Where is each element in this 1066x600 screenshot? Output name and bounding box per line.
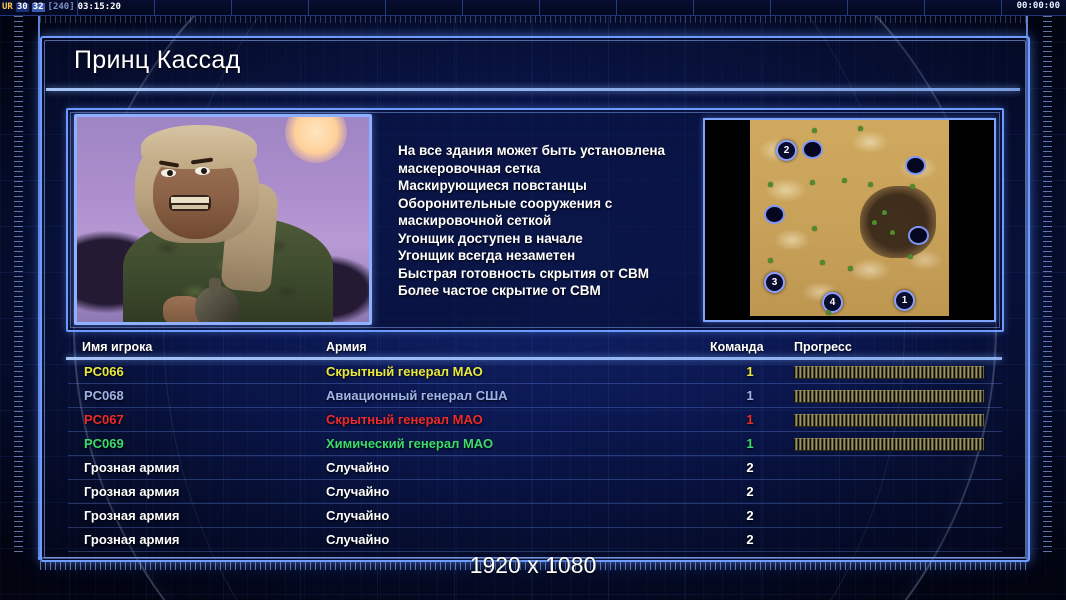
map-tree [858, 126, 863, 131]
map-tree [842, 178, 847, 183]
map-tree [908, 254, 913, 259]
player-army[interactable]: Случайно [326, 460, 389, 475]
table-row[interactable]: PC067Скрытный генерал МАО1 [68, 408, 1002, 432]
title-divider [46, 88, 1020, 91]
player-name: Грозная армия [84, 484, 180, 499]
status-bar-tick [616, 0, 617, 15]
hud-value-2: 32 [32, 3, 45, 12]
portrait-teapot-handle [209, 278, 221, 292]
hud-clock: 03:15:20 [78, 3, 121, 12]
table-row[interactable]: Грозная армияСлучайно2 [68, 456, 1002, 480]
table-row[interactable]: PC066Скрытный генерал МАО1 [68, 360, 1002, 384]
player-name: PC067 [84, 412, 124, 427]
player-progress [794, 366, 984, 377]
player-name: Грозная армия [84, 460, 180, 475]
map-tree [848, 266, 853, 271]
map-tree [868, 182, 873, 187]
progress-bar [794, 438, 984, 451]
map-tree [768, 258, 773, 263]
status-bar-tick [539, 0, 540, 15]
player-name: Грозная армия [84, 532, 180, 547]
player-team[interactable]: 2 [742, 532, 758, 547]
player-army[interactable]: Скрытный генерал МАО [326, 412, 483, 427]
player-name: PC066 [84, 364, 124, 379]
player-army[interactable]: Авиационный генерал США [326, 388, 508, 403]
map-tree [872, 220, 877, 225]
hud-value-3: [240] [48, 3, 75, 12]
player-team[interactable]: 1 [742, 364, 758, 379]
player-name: Грозная армия [84, 508, 180, 523]
player-progress [794, 462, 984, 473]
status-bar-tick [1001, 0, 1002, 15]
portrait-pupil-left [167, 170, 173, 176]
ruler-right [1043, 16, 1052, 556]
player-table-header: Имя игрока Армия Команда Прогресс [66, 338, 1002, 358]
status-bar-tick [308, 0, 309, 15]
map-preview[interactable]: 2 3 4 1 [703, 118, 996, 322]
progress-bar [794, 390, 984, 403]
column-header-progress: Прогресс [794, 340, 852, 354]
hud-fps-label: UR [2, 3, 13, 12]
player-army[interactable]: Случайно [326, 484, 389, 499]
map-hole [764, 205, 785, 224]
ruler-left [14, 16, 23, 556]
ability-line: Оборонительные сооружения с [398, 195, 698, 213]
status-bar-tick [770, 0, 771, 15]
column-header-name: Имя игрока [82, 340, 152, 354]
general-portrait-image [77, 117, 369, 322]
player-army[interactable]: Скрытный генерал МАО [326, 364, 483, 379]
ability-line: Маскирующиеся повстанцы [398, 177, 698, 195]
player-progress [794, 438, 984, 449]
status-bar-tick [924, 0, 925, 15]
game-lobby-screen: UR 30 32 [240] 03:15:20 00:00:00 Принц К… [0, 0, 1066, 600]
table-row[interactable]: Грозная армияСлучайно2 [68, 480, 1002, 504]
player-team[interactable]: 2 [742, 508, 758, 523]
portrait-pupil-right [201, 168, 207, 174]
ability-line: маскеровочная сетка [398, 160, 698, 178]
progress-bar [794, 414, 984, 427]
status-bar-tick [847, 0, 848, 15]
player-progress [794, 534, 984, 545]
player-team[interactable]: 1 [742, 412, 758, 427]
player-team[interactable]: 1 [742, 388, 758, 403]
table-row[interactable]: PC068Авиационный генерал США1 [68, 384, 1002, 408]
table-row[interactable]: Грозная армияСлучайно2 [68, 504, 1002, 528]
portrait-mouth [169, 195, 211, 211]
general-portrait [74, 114, 372, 325]
ruler-top [40, 16, 1026, 23]
player-army[interactable]: Химический генерал МАО [326, 436, 493, 451]
map-tree [882, 210, 887, 215]
ability-line: Более частое скрытие от СВМ [398, 282, 698, 300]
player-progress [794, 390, 984, 401]
map-start-position: 3 [764, 272, 785, 293]
player-team[interactable]: 1 [742, 436, 758, 451]
ability-line: Угонщик доступен в начале [398, 230, 698, 248]
player-table-body: PC066Скрытный генерал МАО1PC068Авиационн… [68, 360, 1002, 552]
status-bar-tick [693, 0, 694, 15]
map-hole [802, 140, 823, 159]
title-bar: Принц Кассад [42, 38, 1024, 90]
table-row[interactable]: PC069Химический генерал МАО1 [68, 432, 1002, 456]
status-bar-tick [462, 0, 463, 15]
map-start-position: 4 [822, 292, 843, 313]
top-status-bar: UR 30 32 [240] 03:15:20 00:00:00 [0, 0, 1066, 16]
match-timer: 00:00:00 [1017, 2, 1060, 11]
general-ability-list: На все здания может быть установлена мас… [398, 142, 698, 300]
ability-line: маскировочной сеткой [398, 212, 698, 230]
status-bar-tick [231, 0, 232, 15]
player-army[interactable]: Случайно [326, 532, 389, 547]
player-team[interactable]: 2 [742, 460, 758, 475]
status-bar-tick [77, 0, 78, 15]
player-progress [794, 510, 984, 521]
player-progress [794, 414, 984, 425]
column-header-army: Армия [326, 340, 367, 354]
map-tree [820, 260, 825, 265]
map-hole [905, 156, 926, 175]
column-header-team: Команда [710, 340, 764, 354]
map-tree [812, 128, 817, 133]
map-start-position: 1 [894, 290, 915, 311]
portrait-teeth-lower [172, 205, 208, 209]
map-tree [910, 184, 915, 189]
player-progress [794, 486, 984, 497]
player-army[interactable]: Случайно [326, 508, 389, 523]
performance-hud: UR 30 32 [240] 03:15:20 [2, 1, 124, 14]
hud-value-1: 30 [16, 3, 29, 12]
map-tree [810, 180, 815, 185]
player-team[interactable]: 2 [742, 484, 758, 499]
map-hole [908, 226, 929, 245]
map-start-position: 2 [776, 140, 797, 161]
progress-bar [794, 366, 984, 379]
map-tree [812, 226, 817, 231]
map-tree [826, 310, 831, 315]
portrait-teeth-upper [171, 197, 209, 203]
table-row[interactable]: Грозная армияСлучайно2 [68, 528, 1002, 552]
map-tree [890, 230, 895, 235]
map-terrain: 2 3 4 1 [750, 120, 949, 316]
page-title: Принц Кассад [74, 46, 240, 75]
ability-line: Быстрая готовность скрытия от СВМ [398, 265, 698, 283]
resolution-overlay: 1920 x 1080 [0, 552, 1066, 579]
status-bar-tick [154, 0, 155, 15]
ability-line: На все здания может быть установлена [398, 142, 698, 160]
map-tree [768, 182, 773, 187]
player-name: PC068 [84, 388, 124, 403]
player-name: PC069 [84, 436, 124, 451]
ability-line: Угонщик всегда незаметен [398, 247, 698, 265]
status-bar-tick [385, 0, 386, 15]
